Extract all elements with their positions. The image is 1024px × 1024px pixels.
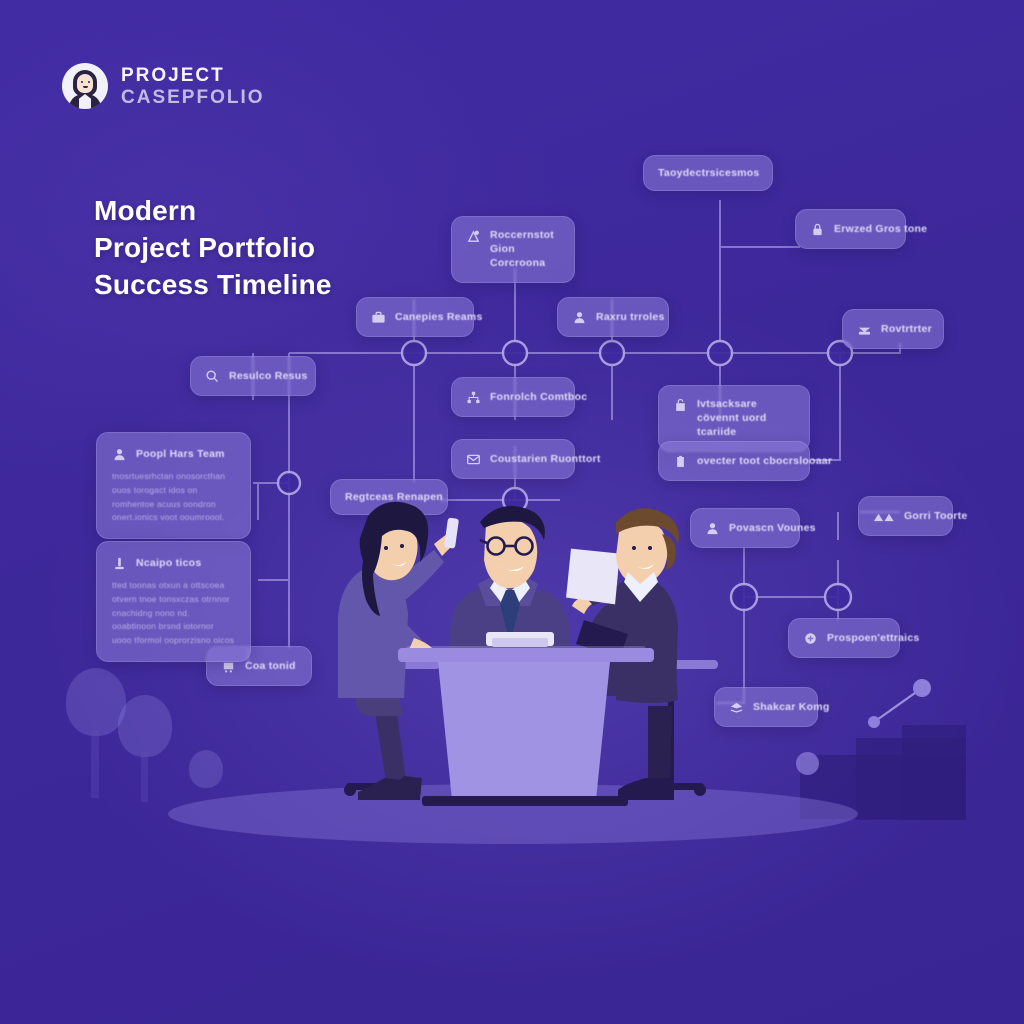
panel-description: tted toonas otxun a ottscoea otvern tnoe… [112, 579, 235, 648]
node-label: Povascn Vounes [729, 522, 785, 534]
node-label: Raxru trroles [596, 311, 654, 323]
shield-icon [803, 631, 818, 646]
node-label: Prospoen'ettraics [827, 632, 885, 644]
lock-icon [810, 222, 825, 237]
node-label: Taoydectrsicesmos [658, 167, 758, 179]
node-shared-rating[interactable]: Shakcar Komg [714, 687, 818, 727]
brand-line-2: CASEPFOLIO [121, 88, 265, 107]
node-label: Resulco Resus [229, 370, 301, 382]
node-label: Erwzed Gros tone [834, 223, 891, 235]
node-project-control[interactable]: Fonrolch Comtboc [451, 377, 575, 417]
node-process-volumes[interactable]: Povascn Vounes [690, 508, 800, 548]
node-label: Fonrolch Comtboc [490, 391, 560, 403]
decor-tree-trunk-medium [141, 752, 148, 802]
node-label: Shakcar Komg [753, 701, 803, 713]
node-label: Coa tonid [245, 660, 296, 672]
search-icon [205, 369, 220, 384]
poster-canvas: PROJECT CASEPFOLIO Modern Project Portfo… [0, 0, 1024, 1024]
node-company-reams[interactable]: Canepies Reams [356, 297, 474, 337]
node-good-results[interactable]: Gorri Toorte [858, 496, 953, 536]
node-label: Coustarien Ruonttort [490, 453, 560, 465]
node-label: Canepies Reams [395, 311, 459, 323]
person-icon [572, 310, 587, 325]
node-progress-manager[interactable]: Regtceas Renapen [330, 479, 448, 515]
decor-trend-line [860, 675, 940, 735]
node-label: Ivtsacksare cövennt uord tcariide [697, 397, 795, 440]
node-label: ovecter toot cbocrslooaar [697, 455, 795, 467]
node-requirements[interactable]: Raxru trroles [557, 297, 669, 337]
person-avatar-icon [62, 63, 108, 109]
panel-title: Poopl Hars Team [136, 448, 225, 460]
charts-icon [873, 509, 895, 524]
sitemap-icon [466, 390, 481, 405]
decor-dot-left [796, 752, 819, 775]
page-title: Modern Project Portfolio Success Timelin… [94, 192, 332, 304]
node-mail-handoff[interactable]: Coustarien Ruonttort [451, 439, 575, 479]
panel-progress-items[interactable]: Ncaipo ticos tted toonas otxun a ottscoe… [96, 541, 251, 662]
node-label: Rovtrtrter [881, 323, 929, 335]
decor-floor-ellipse [168, 784, 858, 844]
node-label: Regtceas Renapen [345, 491, 433, 503]
node-process-structure[interactable]: Roccernstot Gion Corcroona [451, 216, 575, 283]
node-deployment[interactable]: Taoydectrsicesmos [643, 155, 773, 191]
panel-title: Ncaipo ticos [136, 557, 201, 569]
briefcase-icon [371, 310, 386, 325]
brand-line-1: PROJECT [121, 66, 265, 85]
node-label: Gorri Toorte [904, 510, 938, 522]
person-icon [112, 447, 127, 462]
person-icon [705, 521, 720, 536]
award-icon [112, 556, 127, 571]
node-resource-results[interactable]: Resulco Resus [190, 356, 316, 396]
decor-tree-medium [118, 695, 172, 757]
inbox-icon [857, 322, 872, 337]
node-downloads[interactable]: Rovtrtrter [842, 309, 944, 349]
node-label: Roccernstot Gion Corcroona [490, 228, 560, 271]
decor-tree-trunk-large [91, 730, 99, 798]
panel-project-team[interactable]: Poopl Hars Team tnosrtuesrhctan onosorct… [96, 432, 251, 539]
brand-logo[interactable]: PROJECT CASEPFOLIO [62, 63, 265, 109]
node-secured-goal[interactable]: Erwzed Gros tone [795, 209, 906, 249]
bag-icon [673, 398, 688, 413]
decor-tree-large [66, 668, 126, 736]
panel-description: tnosrtuesrhctan onosorcthan ouos torogac… [112, 470, 235, 525]
layers-icon [729, 700, 744, 715]
node-proposal-metrics[interactable]: Prospoen'ettraics [788, 618, 900, 658]
mail-icon [466, 452, 481, 467]
decor-stairs-step-3 [902, 725, 966, 820]
node-client-checklist[interactable]: ovecter toot cbocrslooaar [658, 441, 810, 481]
decor-tree-small [189, 750, 223, 788]
report-icon [673, 454, 688, 469]
network-icon [466, 229, 481, 244]
